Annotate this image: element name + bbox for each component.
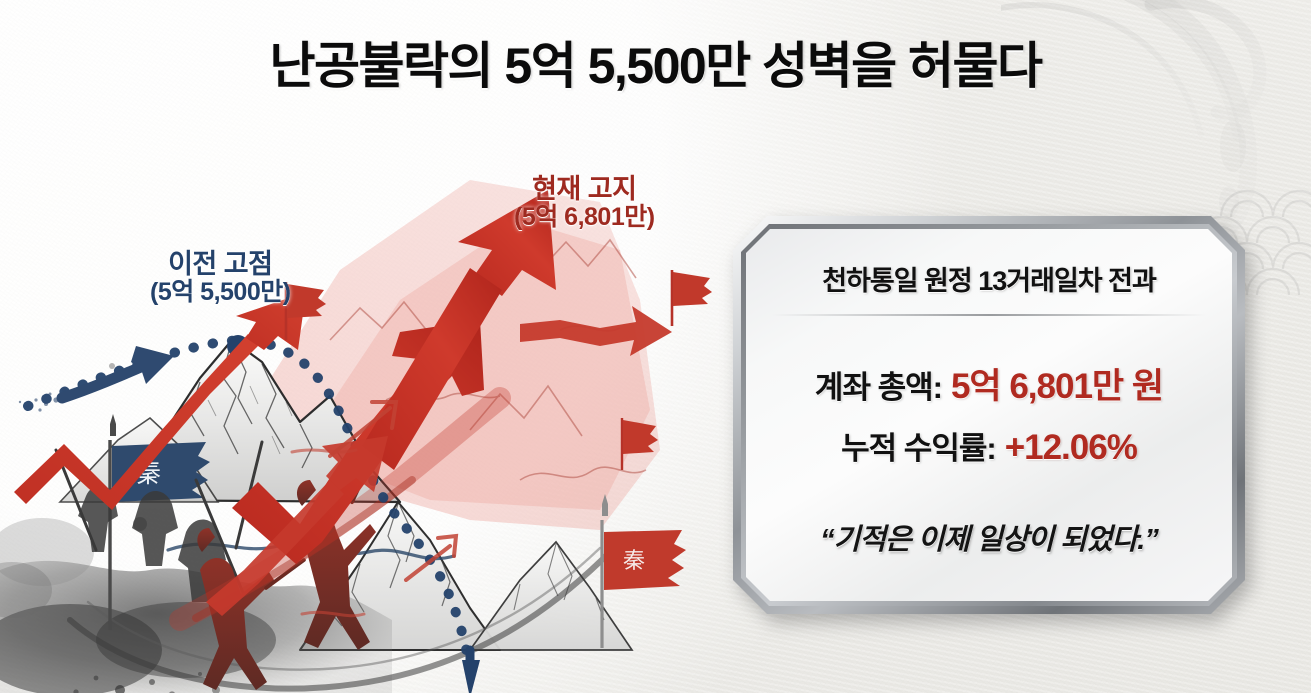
panel-header-title: 천하통일 원정 13거래일차 전과	[822, 259, 1156, 298]
panel-quote: “기적은 이제 일상이 되었다.”	[820, 516, 1158, 558]
annotation-previous-peak-label: 이전 고점	[150, 250, 291, 279]
page-title: 난공불락의 5억 5,500만 성벽을 허물다	[0, 26, 1311, 98]
ink-wash-illustration: 秦	[0, 150, 760, 693]
annotation-previous-peak-value: (5억 5,500만)	[150, 279, 291, 306]
panel-divider	[772, 314, 1206, 316]
cumulative-return-value: +12.06%	[1005, 428, 1137, 468]
red-flag-character: 秦	[623, 549, 645, 574]
cumulative-return-label: 누적 수익률:	[841, 423, 996, 468]
annotation-current-peak-label: 현재 고지	[514, 175, 655, 204]
account-balance-label: 계좌 총액:	[815, 362, 942, 407]
annotation-current-peak-value: (5억 6,801만)	[514, 204, 655, 231]
annotation-previous-peak: 이전 고점 (5억 5,500만)	[150, 250, 291, 306]
stat-row-account-balance: 계좌 총액: 5억 6,801만 원	[815, 358, 1163, 409]
panel-content: 천하통일 원정 13거래일차 전과 계좌 총액: 5억 6,801만 원 누적 …	[746, 229, 1232, 601]
red-pennant-flag-2	[672, 270, 712, 326]
results-panel: 천하통일 원정 13거래일차 전과 계좌 총액: 5억 6,801만 원 누적 …	[733, 216, 1245, 614]
account-balance-value: 5억 6,801만 원	[951, 358, 1163, 409]
poster-canvas: 난공불락의 5억 5,500만 성벽을 허물다	[0, 0, 1311, 693]
stat-row-cumulative-return: 누적 수익률: +12.06%	[841, 423, 1137, 468]
annotation-current-peak: 현재 고지 (5억 6,801만)	[514, 175, 655, 231]
